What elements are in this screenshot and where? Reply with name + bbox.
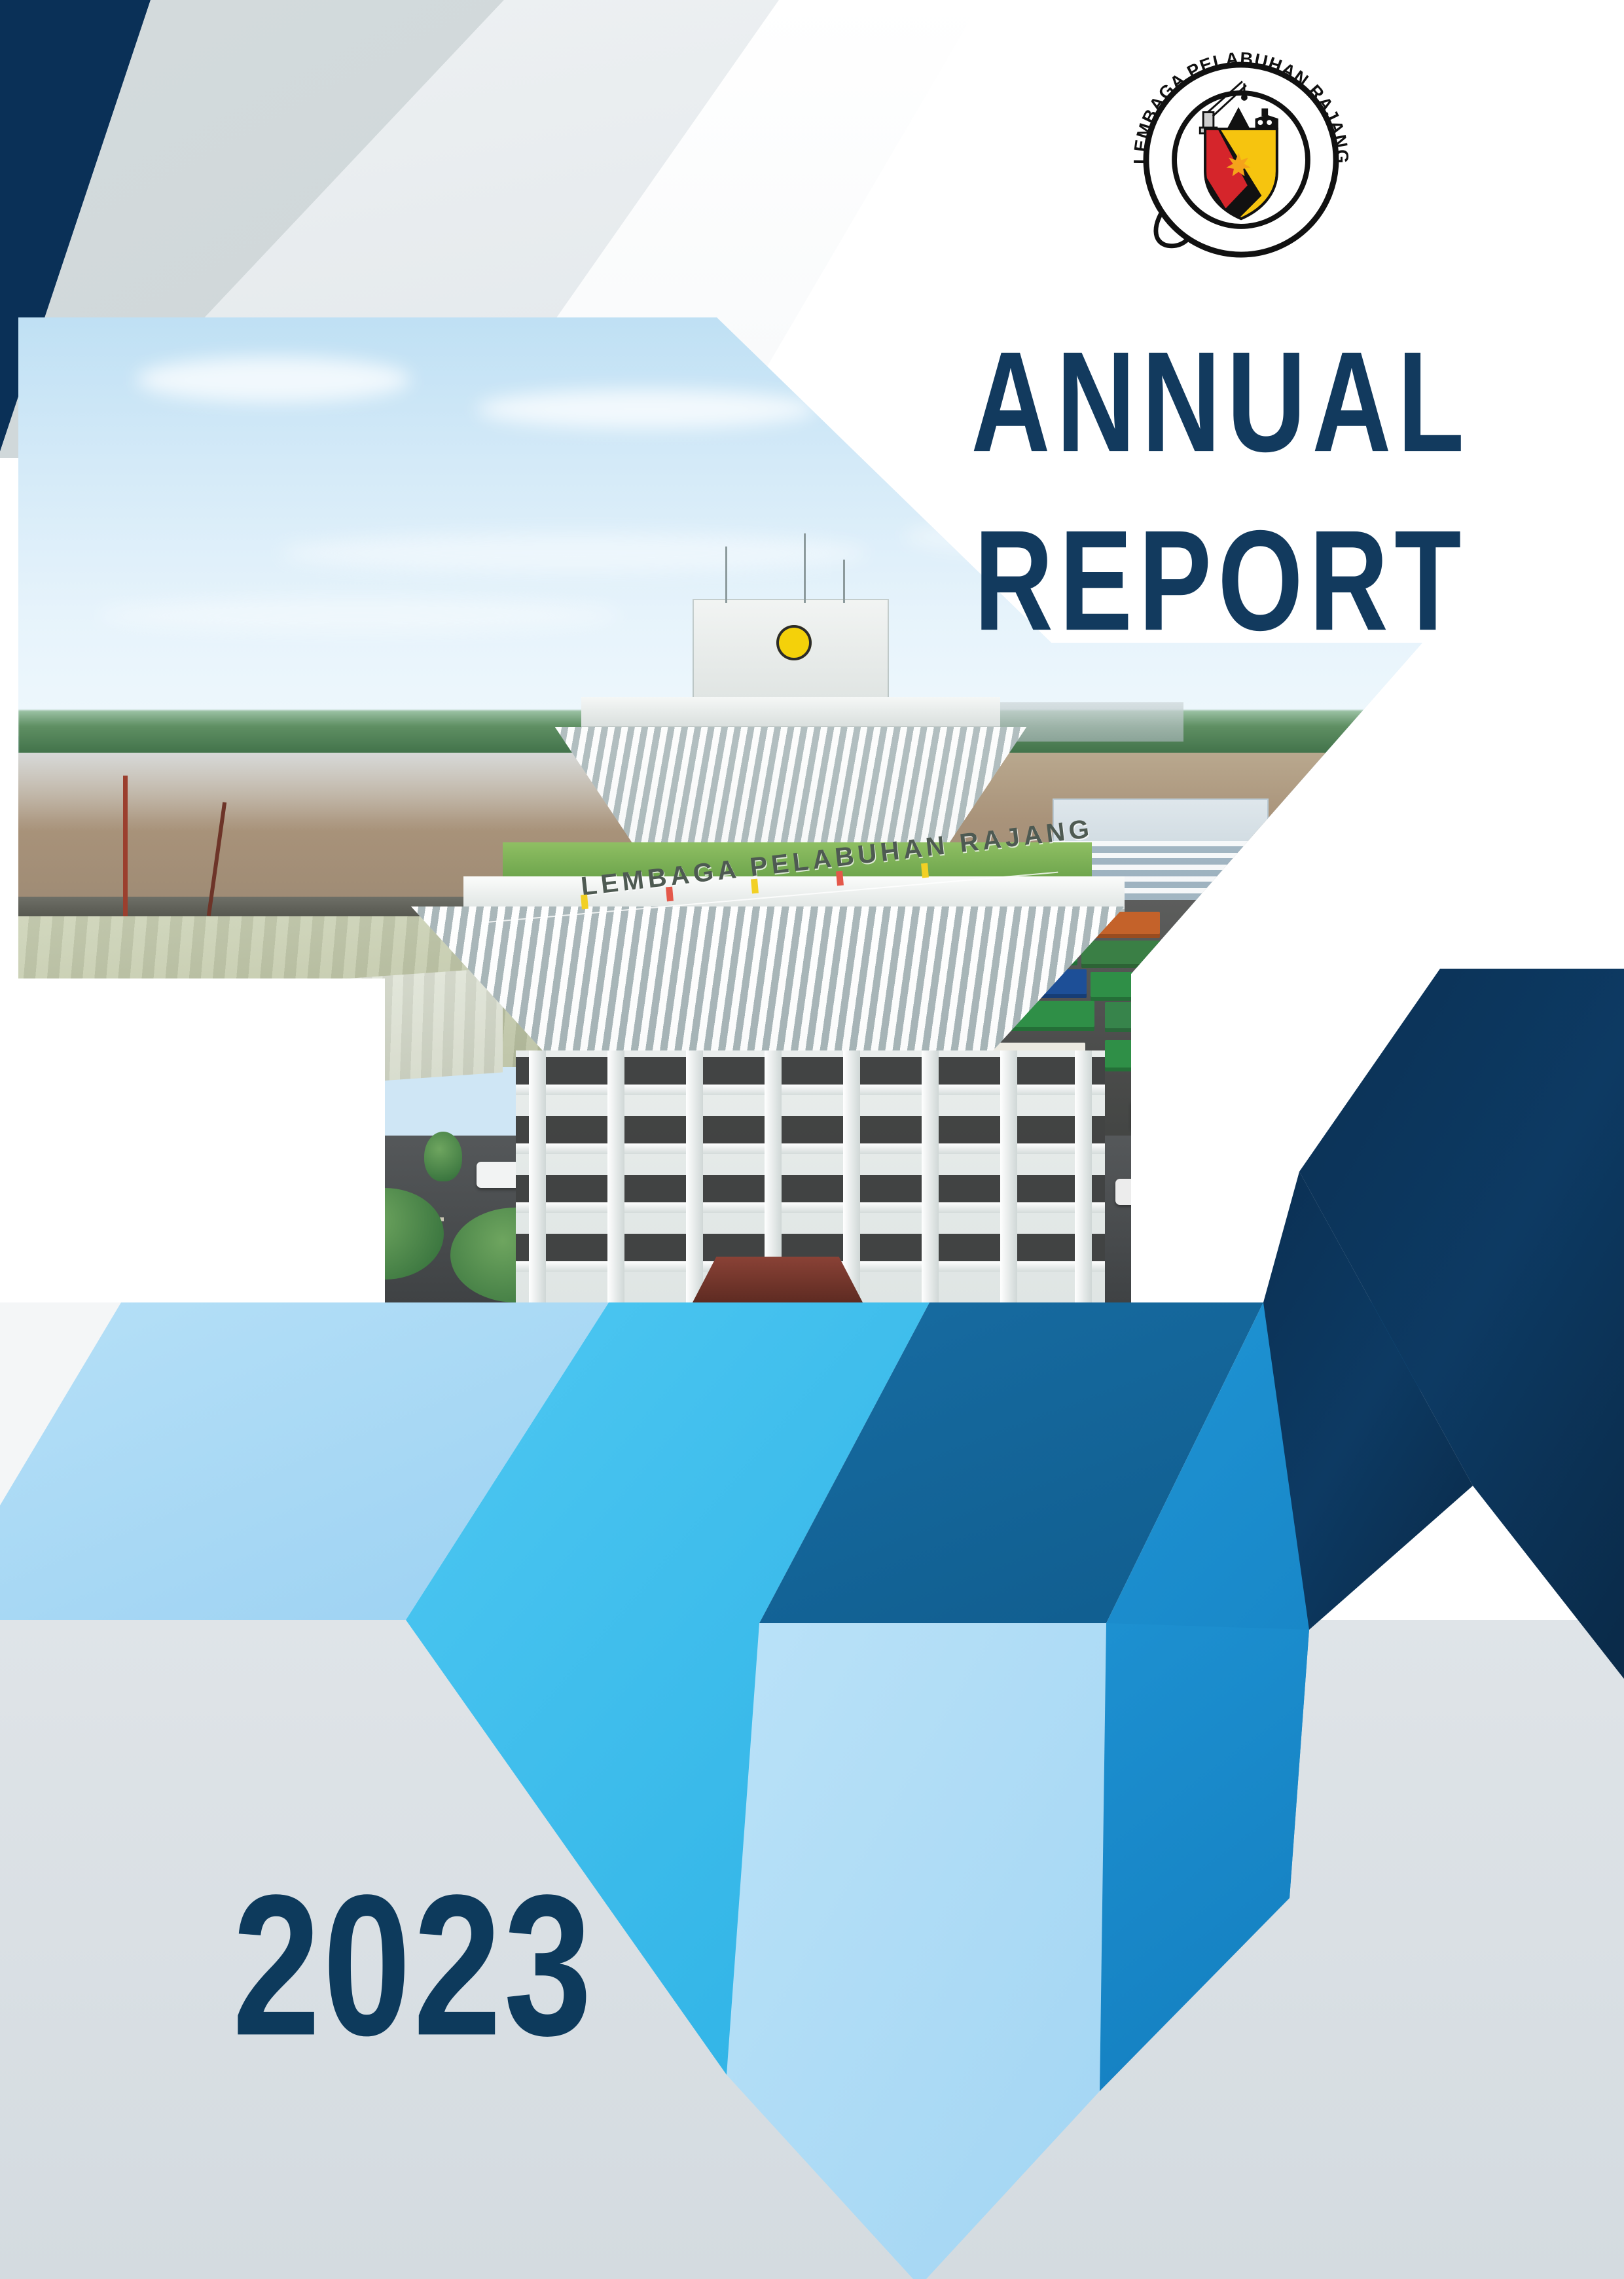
annual-report-cover: SIN YANG LEMBAGA PELABUHAN RAJANG (0, 0, 1624, 2279)
crane-icon (123, 776, 128, 916)
antenna-mast (843, 560, 845, 603)
building-upper-canopy (555, 727, 1026, 845)
building-column (1075, 1050, 1092, 1302)
building-column (607, 1050, 624, 1302)
cloud-icon (477, 389, 817, 429)
pennant-flag (666, 887, 674, 902)
building-lower-canopy (411, 906, 1125, 1057)
photo-port-headquarters: LEMBAGA PELABUHAN RAJANG (385, 599, 1125, 1302)
building-column (529, 1050, 546, 1302)
pennant-flag (751, 879, 759, 894)
title-line-report: REPORT (929, 494, 1513, 668)
building-roof-deck (581, 697, 1000, 728)
cloud-icon (136, 357, 411, 403)
pennant-flag (836, 871, 844, 886)
building-crest-icon (776, 625, 812, 660)
building-column (686, 1050, 703, 1302)
title-line-annual: ANNUAL (929, 315, 1513, 490)
pennant-flag (581, 895, 588, 910)
pennant-flag (921, 863, 929, 878)
lembaga-pelabuhan-rajang-logo: LEMBAGA PELABUHAN RAJANG (1113, 31, 1369, 288)
antenna-mast (804, 533, 806, 603)
building-column (922, 1050, 939, 1302)
building-entrance-porch (693, 1257, 863, 1302)
cover-title-block: ANNUAL REPORT (913, 315, 1528, 634)
cloud-icon (280, 533, 869, 573)
building-column (1000, 1050, 1017, 1302)
building-column (843, 1050, 860, 1302)
antenna-mast (725, 547, 727, 603)
report-year: 2023 (232, 1865, 594, 2066)
